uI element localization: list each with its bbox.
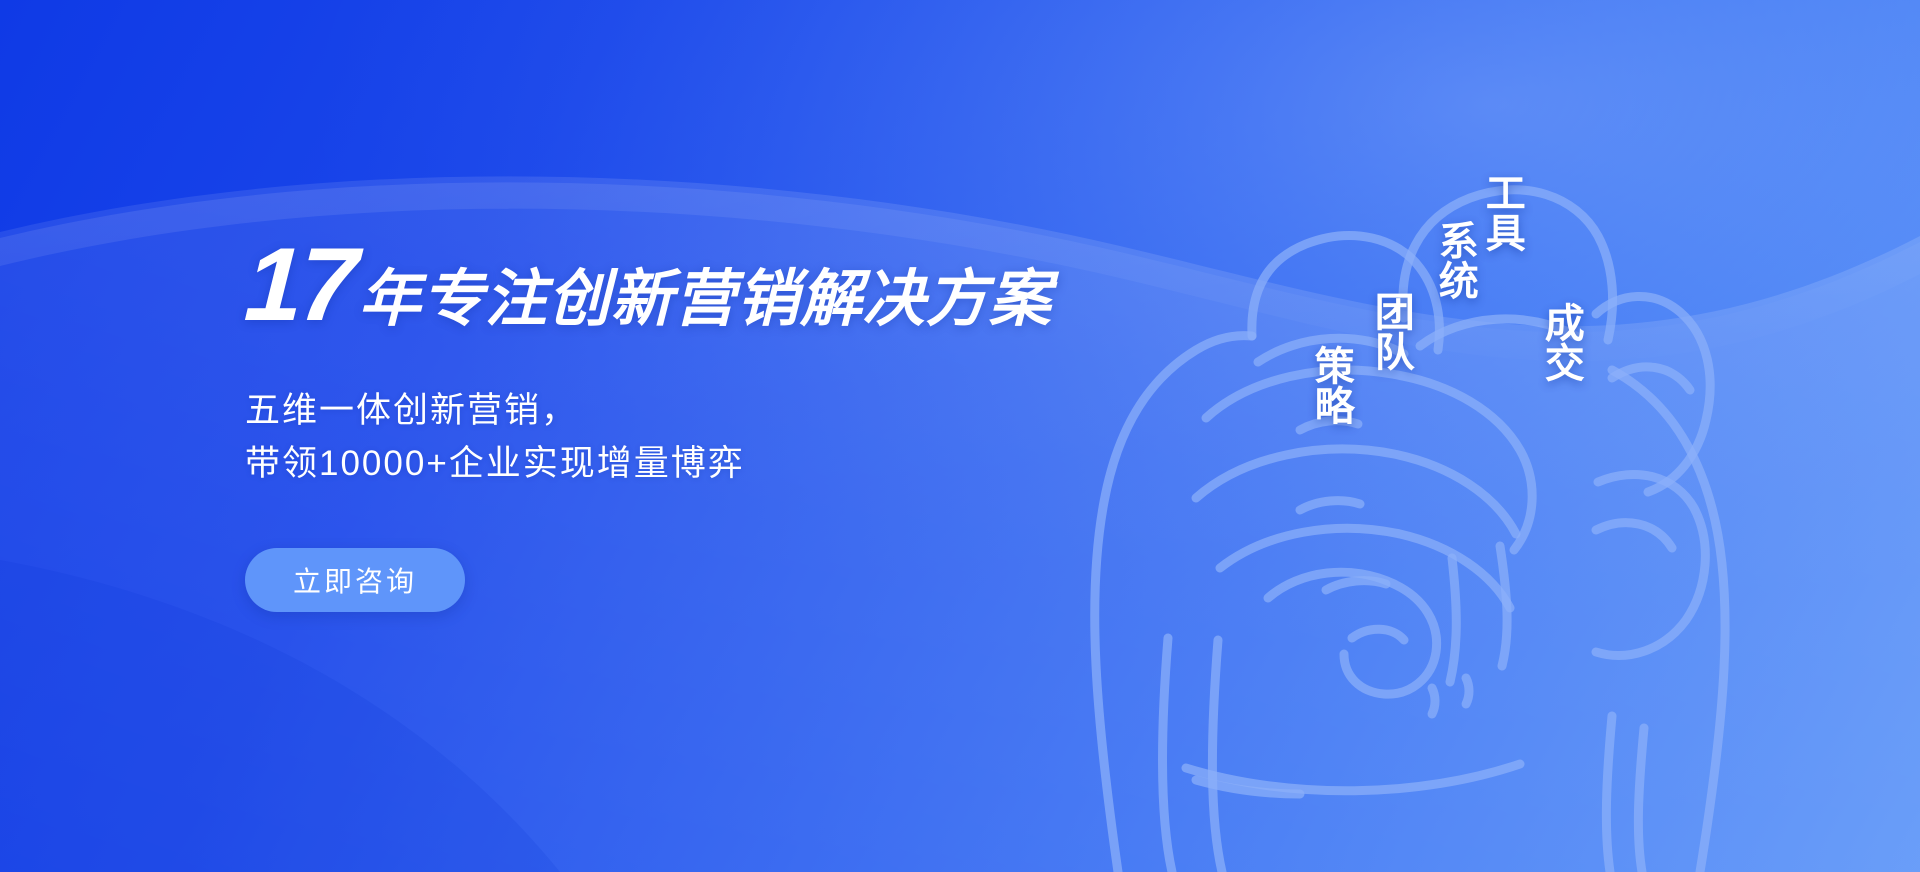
headline-text: 年专注创新营销解决方案 bbox=[359, 269, 1052, 331]
subtitle-line-1: 五维一体创新营销， bbox=[245, 384, 1065, 437]
consult-now-button[interactable]: 立即咨询 bbox=[245, 548, 465, 612]
hero-banner: 工具 系统 团队 策略 成交 17 年专注创新营销解决方案 五维一体创新营销， … bbox=[0, 0, 1920, 872]
hero-subtitle: 五维一体创新营销， 带领10000+企业实现增量博弈 bbox=[245, 384, 1065, 490]
illustration-label-team: 团队 bbox=[1370, 291, 1411, 371]
hero-headline: 17 年专注创新营销解决方案 bbox=[245, 238, 1065, 334]
illustration-label-deal: 成交 bbox=[1540, 302, 1581, 382]
hero-copy-block: 17 年专注创新营销解决方案 五维一体创新营销， 带领10000+企业实现增量博… bbox=[245, 238, 1065, 612]
illustration-label-system: 系统 bbox=[1434, 220, 1475, 300]
raised-fist-icon bbox=[1000, 78, 1820, 872]
headline-years-number: 17 bbox=[242, 238, 357, 334]
illustration-label-strategy: 策略 bbox=[1310, 345, 1351, 425]
subtitle-line-2: 带领10000+企业实现增量博弈 bbox=[245, 437, 1065, 490]
illustration-label-tools: 工具 bbox=[1481, 172, 1522, 252]
